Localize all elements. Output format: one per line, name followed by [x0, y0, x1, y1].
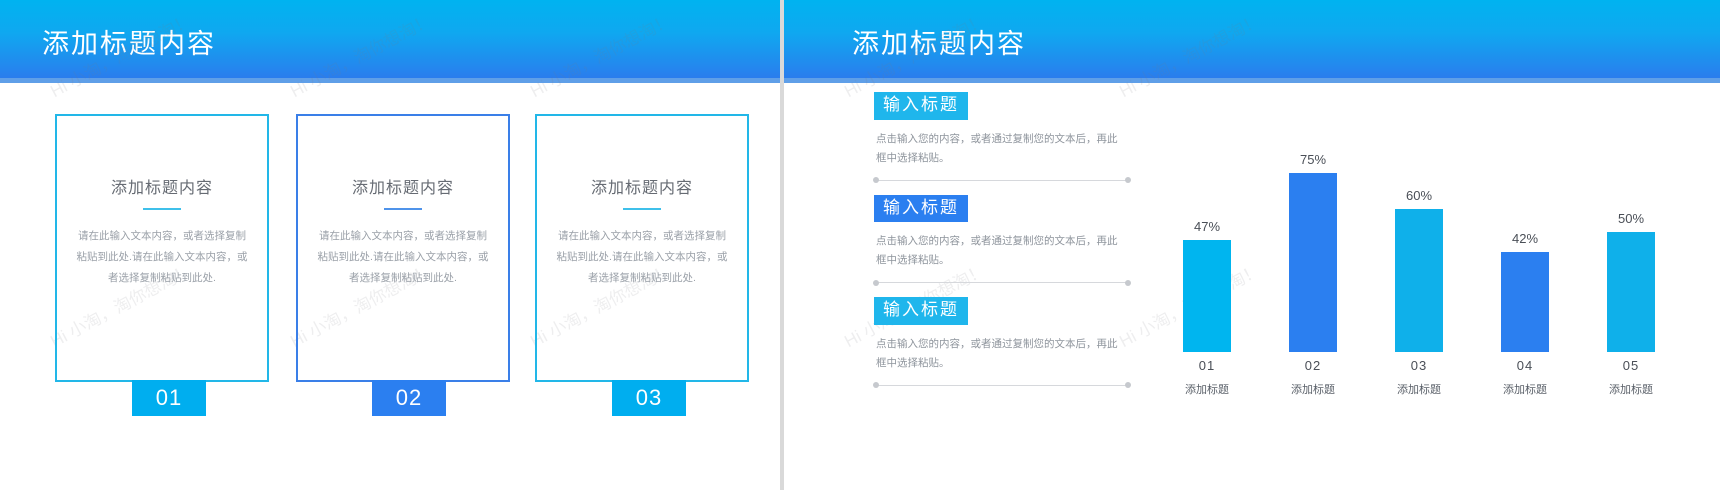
- bar-2[interactable]: [1289, 173, 1337, 352]
- axis-caption: 添加标题: [1159, 381, 1255, 397]
- slide-left: 添加标题内容 Hi 小淘，淘你想淘！ Hi 小淘，淘你想淘！ Hi 小淘，淘你想…: [0, 0, 780, 490]
- bar-slot-1: 47%: [1159, 108, 1255, 352]
- text-block-2[interactable]: 输入标题 点击输入您的内容，或者通过复制您的文本后，再此框中选择粘贴。: [874, 195, 1136, 271]
- axis-cell-3: 03 添加标题: [1371, 358, 1467, 397]
- bar-chart-plot-area: 47% 75% 60% 42% 50%: [1159, 108, 1689, 352]
- slide-right-title: 添加标题内容: [852, 22, 1026, 61]
- block-separator: [876, 385, 1128, 386]
- text-block-label: 输入标题: [874, 195, 968, 223]
- bar-3[interactable]: [1395, 209, 1443, 352]
- card-underline-rule: [384, 208, 422, 210]
- card-number-badge-03: 03: [612, 380, 686, 416]
- bar-value-label-4: 42%: [1477, 231, 1573, 246]
- axis-caption: 添加标题: [1583, 381, 1679, 397]
- axis-cell-1: 01 添加标题: [1159, 358, 1255, 397]
- bar-slot-5: 50%: [1583, 108, 1679, 352]
- bar-chart-axis-labels: 01 添加标题 02 添加标题 03 添加标题 04 添加标题 05 添加标: [1159, 358, 1689, 408]
- bar-slot-2: 75%: [1265, 108, 1361, 352]
- bar-4[interactable]: [1501, 252, 1549, 352]
- axis-number: 03: [1371, 358, 1467, 373]
- slide-right-header-underline: [784, 78, 1720, 83]
- content-card-01[interactable]: 添加标题内容 请在此输入文本内容，或者选择复制粘贴到此处.请在此输入文本内容，或…: [55, 114, 269, 382]
- text-block-label: 输入标题: [874, 92, 968, 120]
- bar-5[interactable]: [1607, 232, 1655, 352]
- bar-value-label-5: 50%: [1583, 211, 1679, 226]
- axis-caption: 添加标题: [1265, 381, 1361, 397]
- axis-cell-2: 02 添加标题: [1265, 358, 1361, 397]
- block-separator: [876, 282, 1128, 283]
- card-number-badge-02: 02: [372, 380, 446, 416]
- bar-1[interactable]: [1183, 240, 1231, 352]
- card-underline-rule: [143, 208, 181, 210]
- card-number-badge-01: 01: [132, 380, 206, 416]
- text-block-3[interactable]: 输入标题 点击输入您的内容，或者通过复制您的文本后，再此框中选择粘贴。: [874, 297, 1136, 373]
- text-block-body: 点击输入您的内容，或者通过复制您的文本后，再此框中选择粘贴。: [876, 335, 1126, 373]
- slide-left-title: 添加标题内容: [42, 22, 216, 61]
- card-body-text: 请在此输入文本内容，或者选择复制粘贴到此处.请在此输入文本内容，或者选择复制粘贴…: [75, 226, 249, 289]
- text-block-body: 点击输入您的内容，或者通过复制您的文本后，再此框中选择粘贴。: [876, 130, 1126, 168]
- slide-right: 添加标题内容 Hi 小淘，淘你想淘！ Hi 小淘，淘你想淘！ Hi 小淘，淘你想…: [784, 0, 1720, 490]
- card-title: 添加标题内容: [57, 174, 267, 198]
- axis-number: 02: [1265, 358, 1361, 373]
- content-card-02[interactable]: 添加标题内容 请在此输入文本内容，或者选择复制粘贴到此处.请在此输入文本内容，或…: [296, 114, 510, 382]
- card-title: 添加标题内容: [537, 174, 747, 198]
- bar-slot-3: 60%: [1371, 108, 1467, 352]
- card-underline-rule: [623, 208, 661, 210]
- axis-caption: 添加标题: [1371, 381, 1467, 397]
- axis-number: 01: [1159, 358, 1255, 373]
- content-card-03[interactable]: 添加标题内容 请在此输入文本内容，或者选择复制粘贴到此处.请在此输入文本内容，或…: [535, 114, 749, 382]
- bar-value-label-3: 60%: [1371, 188, 1467, 203]
- text-block-body: 点击输入您的内容，或者通过复制您的文本后，再此框中选择粘贴。: [876, 232, 1126, 270]
- axis-cell-4: 04 添加标题: [1477, 358, 1573, 397]
- slide-left-header-underline: [0, 78, 780, 83]
- bar-value-label-2: 75%: [1265, 152, 1361, 167]
- text-block-label: 输入标题: [874, 297, 968, 325]
- text-block-list: 输入标题 点击输入您的内容，或者通过复制您的文本后，再此框中选择粘贴。 输入标题…: [874, 92, 1136, 400]
- bar-value-label-1: 47%: [1159, 219, 1255, 234]
- axis-caption: 添加标题: [1477, 381, 1573, 397]
- bar-chart: 47% 75% 60% 42% 50%: [1159, 108, 1689, 388]
- card-body-text: 请在此输入文本内容，或者选择复制粘贴到此处.请在此输入文本内容，或者选择复制粘贴…: [316, 226, 490, 289]
- slide-deck: 添加标题内容 Hi 小淘，淘你想淘！ Hi 小淘，淘你想淘！ Hi 小淘，淘你想…: [0, 0, 1720, 490]
- bar-slot-4: 42%: [1477, 108, 1573, 352]
- card-body-text: 请在此输入文本内容，或者选择复制粘贴到此处.请在此输入文本内容，或者选择复制粘贴…: [555, 226, 729, 289]
- axis-cell-5: 05 添加标题: [1583, 358, 1679, 397]
- card-title: 添加标题内容: [298, 174, 508, 198]
- block-separator: [876, 180, 1128, 181]
- axis-number: 04: [1477, 358, 1573, 373]
- text-block-1[interactable]: 输入标题 点击输入您的内容，或者通过复制您的文本后，再此框中选择粘贴。: [874, 92, 1136, 168]
- axis-number: 05: [1583, 358, 1679, 373]
